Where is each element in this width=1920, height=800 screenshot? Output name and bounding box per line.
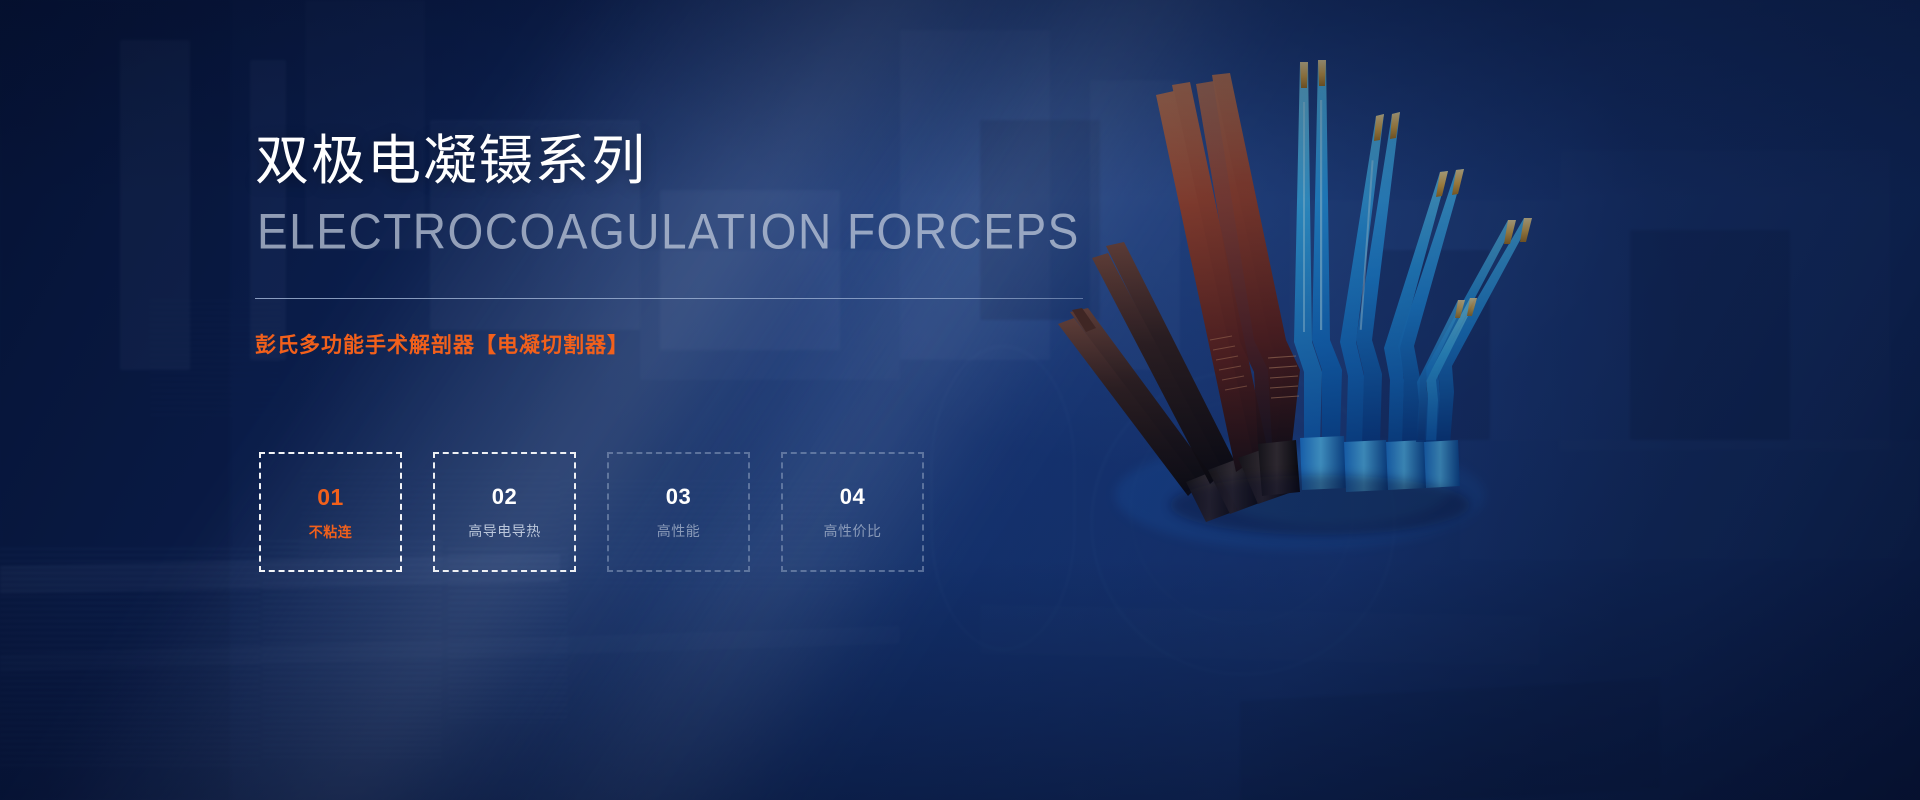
feature-box-04[interactable]: 04 高性价比 <box>781 452 924 572</box>
feature-list: 01 不粘连 02 高导电导热 03 高性能 04 高性价比 <box>259 452 924 572</box>
page-title: 双极电凝镊系列 <box>255 130 1155 194</box>
hero-banner: 双极电凝镊系列 ELECTROCOAGULATION FORCEPS 彭氏多功能… <box>0 0 1920 800</box>
feature-box-03[interactable]: 03 高性能 <box>607 452 750 572</box>
feature-number: 03 <box>666 486 691 508</box>
feature-box-02[interactable]: 02 高导电导热 <box>433 452 576 572</box>
feature-label: 高性能 <box>657 524 701 538</box>
feature-box-01[interactable]: 01 不粘连 <box>259 452 402 572</box>
feature-label: 高导电导热 <box>468 524 541 538</box>
feature-label: 不粘连 <box>309 525 353 539</box>
divider <box>255 298 1083 299</box>
feature-label: 高性价比 <box>824 524 882 538</box>
page-subtitle-en: ELECTROCOAGULATION FORCEPS <box>257 204 1155 259</box>
background-lab-photo <box>0 0 1920 800</box>
product-tagline: 彭氏多功能手术解剖器【电凝切割器】 <box>255 329 1155 359</box>
banner-content: 双极电凝镊系列 ELECTROCOAGULATION FORCEPS 彭氏多功能… <box>255 130 1155 359</box>
feature-number: 04 <box>840 486 865 508</box>
feature-number: 02 <box>492 486 517 508</box>
feature-number: 01 <box>317 486 344 509</box>
